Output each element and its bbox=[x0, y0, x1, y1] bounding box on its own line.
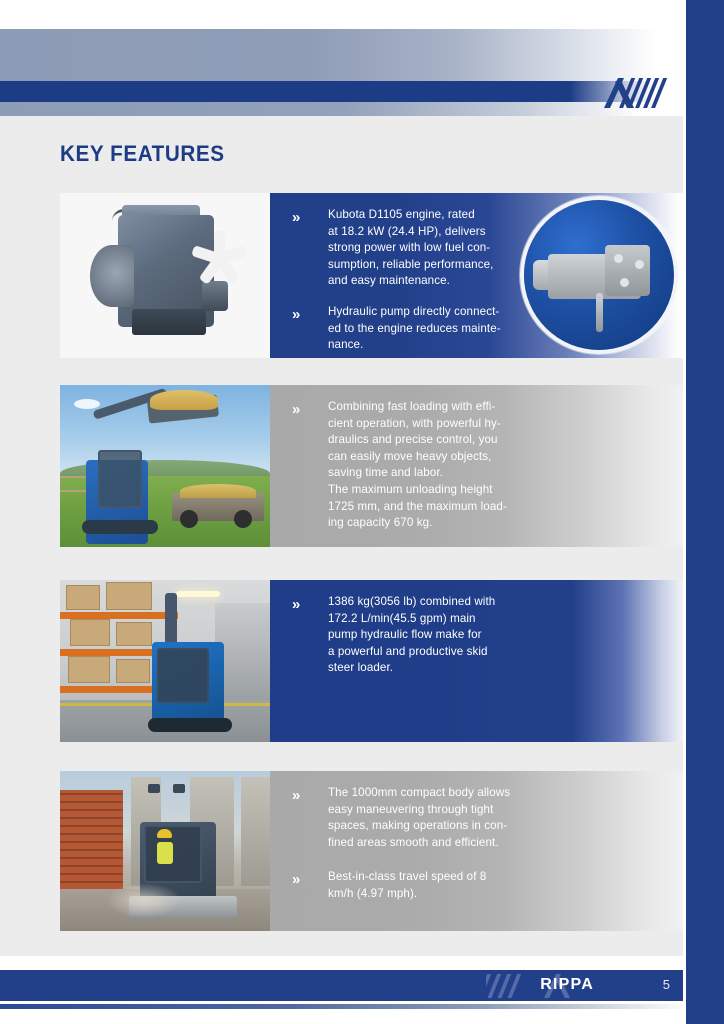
feature-image-warehouse bbox=[60, 580, 270, 742]
feature-row-engine: » Kubota D1105 engine, rated at 18.2 kW … bbox=[60, 193, 690, 358]
feature-bullet: » Best-in-class travel speed of 8 km/h (… bbox=[292, 869, 680, 902]
feature-row-loading: » Combining fast loading with effi- cien… bbox=[60, 385, 690, 547]
feature-panel-compact: » The 1000mm compact body allows easy ma… bbox=[270, 771, 690, 931]
double-chevron-icon: » bbox=[292, 787, 314, 805]
footer-brand-logo: RIPPA bbox=[540, 976, 594, 994]
page-number: 5 bbox=[663, 977, 670, 992]
feature-image-construction bbox=[60, 771, 270, 931]
feature-bullet-text: The 1000mm compact body allows easy mane… bbox=[328, 785, 510, 851]
feature-image-engine bbox=[60, 193, 270, 358]
header-steel-band bbox=[0, 29, 690, 81]
feature-panel-engine: » Kubota D1105 engine, rated at 18.2 kW … bbox=[270, 193, 690, 358]
feature-panel-loading: » Combining fast loading with effi- cien… bbox=[270, 385, 690, 547]
feature-bullet-text: 1386 kg(3056 lb) combined with 172.2 L/m… bbox=[328, 594, 495, 677]
feature-bullet-text: Hydraulic pump directly connect- ed to t… bbox=[328, 304, 501, 354]
footer-highlight-line bbox=[0, 1004, 690, 1009]
rippa-chevron-logo-icon bbox=[602, 76, 674, 110]
feature-bullet: » The 1000mm compact body allows easy ma… bbox=[292, 785, 680, 851]
double-chevron-icon: » bbox=[292, 209, 314, 227]
right-edge-navy-bar bbox=[686, 0, 724, 1024]
feature-panel-power: » 1386 kg(3056 lb) combined with 172.2 L… bbox=[270, 580, 690, 742]
feature-bullet: » 1386 kg(3056 lb) combined with 172.2 L… bbox=[292, 594, 680, 677]
header-navy-band bbox=[0, 81, 690, 102]
hydraulic-pump-circle-photo bbox=[520, 196, 678, 354]
feature-bullet: » Combining fast loading with effi- cien… bbox=[292, 399, 680, 532]
double-chevron-icon: » bbox=[292, 306, 314, 324]
double-chevron-icon: » bbox=[292, 871, 314, 889]
feature-row-compact: » The 1000mm compact body allows easy ma… bbox=[60, 771, 690, 931]
page-footer: RIPPA 5 bbox=[0, 956, 690, 1024]
page-title: KEY FEATURES bbox=[60, 141, 225, 167]
double-chevron-icon: » bbox=[292, 596, 314, 614]
page-header bbox=[0, 0, 690, 120]
feature-bullet-text: Kubota D1105 engine, rated at 18.2 kW (2… bbox=[328, 207, 494, 290]
header-steel-band-lower bbox=[0, 102, 690, 116]
right-edge-white-gap bbox=[683, 0, 686, 1024]
brand-name: RIPPA bbox=[540, 976, 594, 994]
feature-image-farm bbox=[60, 385, 270, 547]
double-chevron-icon: » bbox=[292, 401, 314, 419]
feature-bullet-text: Best-in-class travel speed of 8 km/h (4.… bbox=[328, 869, 486, 902]
feature-bullet-text: Combining fast loading with effi- cient … bbox=[328, 399, 507, 532]
feature-row-power: » 1386 kg(3056 lb) combined with 172.2 L… bbox=[60, 580, 690, 742]
